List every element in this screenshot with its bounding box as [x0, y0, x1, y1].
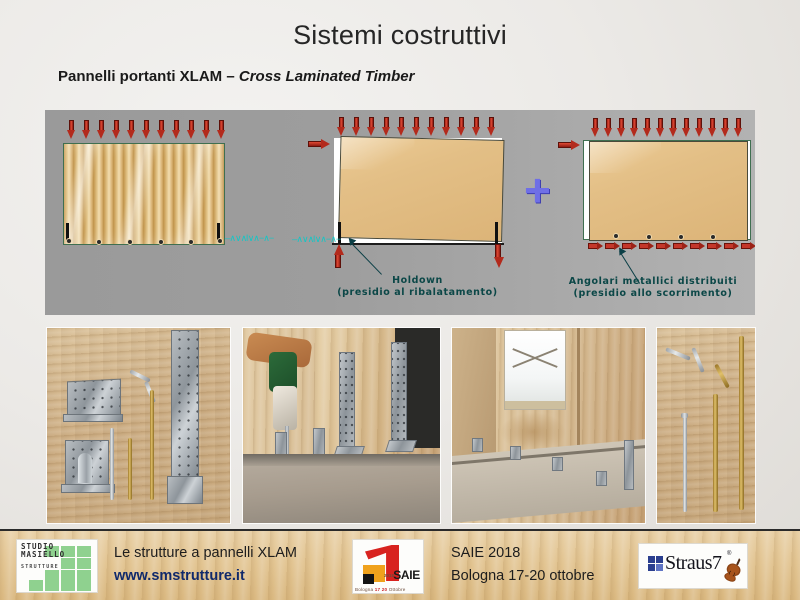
perforation-pattern — [340, 353, 354, 453]
load-arrow-down-icon — [218, 120, 225, 139]
saie-mark-black — [363, 574, 374, 584]
studio-masiello-logo[interactable]: STUDIO MASIELLO STRUTTURE — [16, 539, 98, 593]
slide-canvas: Sistemi costruttivi Pannelli portanti XL… — [0, 0, 800, 600]
load-arrow-down-icon — [458, 117, 465, 136]
screw — [150, 390, 154, 500]
anchor-point — [217, 238, 223, 244]
strap-foot — [167, 476, 203, 504]
logo-square — [45, 580, 59, 591]
angle-bracket — [339, 352, 355, 454]
load-arrow-down-icon — [735, 118, 742, 137]
load-arrow-down-icon — [353, 117, 360, 136]
saie-logo[interactable]: 2018 SAIE Bologna 17 20 Ottobre — [352, 539, 424, 594]
angle-bracket — [552, 457, 563, 471]
angle-bracket-base — [63, 414, 123, 422]
screw-head — [681, 413, 688, 418]
foundation-line — [332, 243, 504, 245]
angle-bracket — [472, 438, 483, 452]
shear-arrow-icon — [707, 243, 722, 249]
angle-bracket — [510, 446, 521, 460]
wall-body-strips — [63, 143, 225, 245]
load-arrow-down-icon — [83, 120, 90, 139]
load-arrow-down-icon — [443, 117, 450, 136]
wall-body-tilted — [338, 136, 504, 242]
straus-square-icon — [648, 564, 655, 571]
seismic-signal-icon: —∧∨∧‖∨∧−∧− — [225, 235, 273, 244]
saie-sub-dates: 17 20 — [375, 587, 388, 592]
load-arrow-down-icon — [473, 117, 480, 136]
callout-holdown-line2: (presidio al ribalatamento) — [295, 287, 540, 299]
shear-arrow-icon — [724, 243, 739, 249]
load-arrow-down-icon — [158, 120, 165, 139]
logo-square — [29, 580, 43, 591]
screw — [110, 428, 114, 500]
load-arrow-down-icon — [644, 118, 651, 137]
subtitle-italic: Cross Laminated Timber — [239, 68, 415, 85]
load-arrow-down-icon — [413, 117, 420, 136]
wall-gloss — [64, 144, 224, 244]
anchor-point — [188, 239, 194, 245]
load-arrow-down-icon — [683, 118, 690, 137]
holdown-bracket-foot — [61, 484, 115, 493]
anchor-point — [127, 239, 133, 245]
anchor-point — [710, 234, 716, 240]
load-arrow-down-icon — [722, 118, 729, 137]
bracket-slot — [78, 453, 92, 483]
callout-angolari-line2: (presidio allo scorrimento) — [548, 288, 755, 300]
callout-leader-line — [349, 241, 382, 275]
wall-gloss — [341, 137, 415, 171]
diagram-panel-sliding: Angolari metallici distribuiti (presidio… — [550, 110, 755, 315]
horizontal-force-arrow-icon — [308, 140, 330, 148]
load-arrow-down-icon — [398, 117, 405, 136]
photo-row — [0, 328, 800, 523]
photo-xlam-interior-wall-window — [452, 328, 645, 523]
photo-installing-angle-brackets — [243, 328, 440, 523]
load-arrow-down-icon — [98, 120, 105, 139]
violin-icon — [723, 555, 745, 583]
load-arrow-down-icon — [188, 120, 195, 139]
load-arrow-down-icon — [368, 117, 375, 136]
page-subtitle: Pannelli portanti XLAM – Cross Laminated… — [58, 68, 414, 85]
logo-square — [77, 546, 91, 557]
photo-brackets-and-screws — [47, 328, 230, 523]
long-perforated-strap — [171, 330, 199, 482]
saie-wordmark: SAIE — [393, 568, 420, 582]
wall-gloss — [590, 142, 661, 173]
compression-arrow-icon — [494, 244, 503, 268]
load-arrow-down-icon — [383, 117, 390, 136]
load-arrow-down-icon — [203, 120, 210, 139]
load-arrow-down-icon — [605, 118, 612, 137]
screw — [713, 394, 718, 512]
load-arrow-down-icon — [143, 120, 150, 139]
load-arrow-down-icon — [657, 118, 664, 137]
footer-event-name: SAIE 2018 — [451, 545, 520, 561]
holdown-bar — [495, 222, 498, 244]
load-arrow-down-icon — [173, 120, 180, 139]
window-sill — [505, 401, 565, 409]
load-arrow-down-icon — [488, 117, 495, 136]
shear-arrow-icon — [690, 243, 705, 249]
footer-website-link[interactable]: www.smstrutture.it — [114, 568, 245, 584]
logo-square — [77, 558, 91, 569]
load-arrow-down-icon — [68, 120, 75, 139]
plus-icon: + — [524, 167, 551, 213]
perforation-pattern — [392, 343, 406, 447]
load-arrow-down-icon — [592, 118, 599, 137]
callout-angolari-line1: Angolari metallici distribuiti — [548, 276, 755, 288]
diagram-panel-strips: —∧∨∧‖∨∧−∧− — [45, 110, 295, 315]
straus-square-icon — [656, 556, 663, 563]
logo-square — [77, 580, 91, 591]
load-arrow-down-icon — [113, 120, 120, 139]
load-arrow-down-icon — [696, 118, 703, 137]
studio-logo-line3: STRUTTURE — [21, 564, 59, 570]
straus-wordmark: Straus7 — [665, 552, 722, 575]
load-arrow-down-icon — [128, 120, 135, 139]
straus-square-icon — [656, 564, 663, 571]
horizontal-force-arrow-icon — [558, 141, 580, 149]
angle-bracket-foot — [385, 440, 417, 452]
angle-bracket — [391, 342, 407, 448]
load-arrow-down-icon — [709, 118, 716, 137]
load-arrow-down-icon — [428, 117, 435, 136]
anchor-point — [678, 234, 684, 240]
angle-bracket — [624, 440, 634, 490]
load-arrow-down-icon — [338, 117, 345, 136]
slab-edge — [243, 454, 440, 466]
diagram-panel-overturning: —∧∨∧‖∨∧−∧− Holdown (presidio al ribalata… — [300, 110, 550, 315]
holdown-bracket — [65, 440, 109, 490]
straus7-logo[interactable]: Straus7 ® — [638, 543, 748, 589]
saie-sub-post: Ottobre — [387, 587, 405, 592]
callout-holdown-line1: Holdown — [295, 275, 540, 287]
saie-sub-pre: Bologna — [355, 587, 375, 592]
studio-logo-line2: MASIELLO — [21, 551, 65, 559]
shear-arrow-icon — [656, 243, 671, 249]
footer-event-location: Bologna 17-20 ottobre — [451, 568, 595, 584]
saie-sub-caption: Bologna 17 20 Ottobre — [355, 587, 405, 592]
photo-long-timber-screws — [657, 328, 755, 523]
drill-battery — [273, 386, 297, 430]
footer-text-title: Le strutture a pannelli XLAM — [114, 545, 297, 561]
seismic-signal-icon: —∧∨∧‖∨∧−∧− — [292, 236, 340, 245]
page-title: Sistemi costruttivi — [0, 20, 800, 51]
perforation-pattern — [172, 331, 198, 481]
shear-arrow-icon — [673, 243, 688, 249]
callout-angolari: Angolari metallici distribuiti (presidio… — [548, 276, 755, 300]
anchor-point — [96, 239, 102, 245]
shear-arrow-icon — [588, 243, 603, 249]
subtitle-plain: Pannelli portanti XLAM – — [58, 68, 239, 85]
anchor-point — [158, 239, 164, 245]
uplift-arrow-icon — [334, 244, 343, 268]
straus-square-icon — [648, 556, 655, 563]
anchor-point — [613, 233, 619, 239]
structural-diagram: —∧∨∧‖∨∧−∧− —∧∨∧‖∨∧−∧− — [45, 110, 755, 315]
wall-body-solid — [589, 141, 748, 241]
screw — [739, 336, 744, 510]
load-arrow-down-icon — [631, 118, 638, 137]
load-arrow-down-icon — [618, 118, 625, 137]
logo-square — [61, 580, 75, 591]
screw — [128, 438, 132, 500]
window-opening — [504, 330, 566, 410]
angle-bracket — [596, 471, 607, 486]
callout-holdown: Holdown (presidio al ribalatamento) — [295, 275, 540, 299]
anchor-point — [66, 238, 72, 244]
shear-arrow-icon — [741, 243, 755, 249]
shear-arrow-icon — [639, 243, 654, 249]
screw — [683, 416, 687, 512]
load-arrow-down-icon — [670, 118, 677, 137]
studio-logo-name: STUDIO MASIELLO — [21, 543, 65, 560]
anchor-point — [646, 234, 652, 240]
